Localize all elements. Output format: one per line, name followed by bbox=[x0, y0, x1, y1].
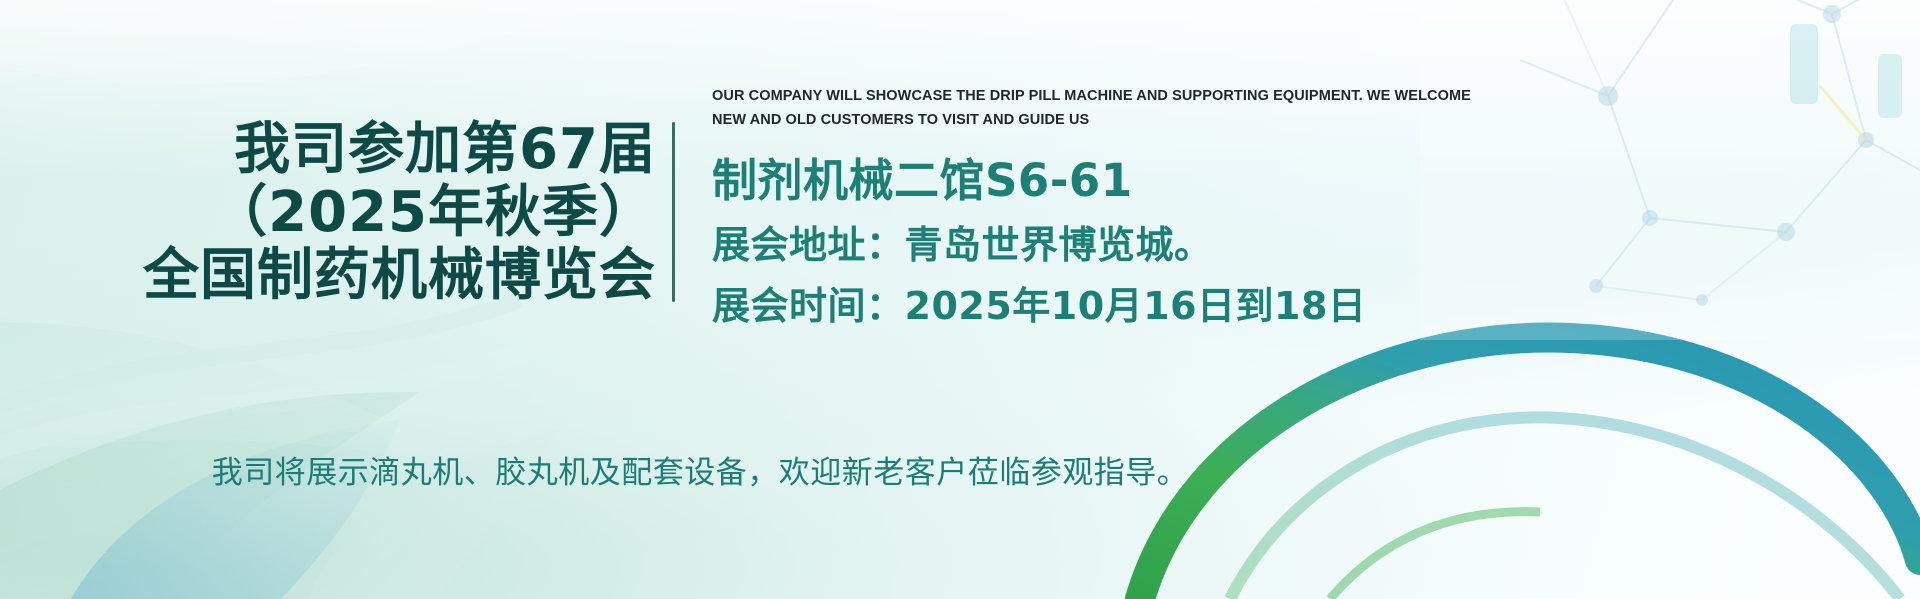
headline-line-1: 我司参加第67届 bbox=[0, 118, 656, 181]
booth-number: 制剂机械二馆S6-61 bbox=[712, 153, 1892, 209]
exhibition-banner: 我司参加第67届 （2025年秋季） 全国制药机械博览会 OUR COMPANY… bbox=[0, 0, 1920, 599]
headline-line-3: 全国制药机械博览会 bbox=[0, 244, 656, 307]
venue-address: 展会地址：青岛世界博览城。 bbox=[712, 220, 1892, 270]
tagline: 我司将展示滴丸机、胶丸机及配套设备，欢迎新老客户莅临参观指导。 bbox=[0, 452, 1400, 494]
english-caption: OUR COMPANY WILL SHOWCASE THE DRIP PILL … bbox=[712, 84, 1472, 132]
event-dates: 展会时间：2025年10月16日到18日 bbox=[712, 281, 1892, 331]
headline-line-2: （2025年秋季） bbox=[0, 181, 656, 244]
vertical-divider bbox=[672, 122, 675, 302]
main-headline: 我司参加第67届 （2025年秋季） 全国制药机械博览会 bbox=[0, 118, 668, 307]
info-panel: OUR COMPANY WILL SHOWCASE THE DRIP PILL … bbox=[712, 84, 1892, 331]
